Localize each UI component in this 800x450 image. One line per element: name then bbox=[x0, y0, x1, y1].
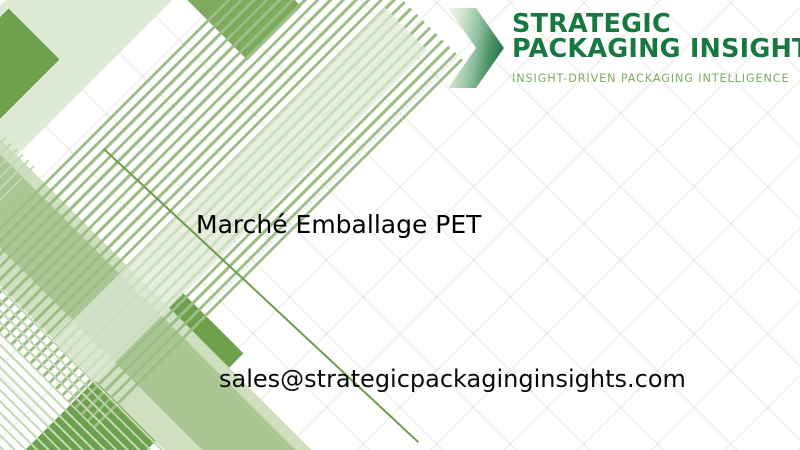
slide-title: Marché Emballage PET bbox=[196, 210, 481, 239]
accent-hairline bbox=[103, 148, 419, 442]
presentation-slide: STRATEGIC PACKAGING INSIGHTS INSIGHT-DRI… bbox=[0, 0, 800, 450]
logo-line-2: PACKAGING INSIGHTS bbox=[512, 37, 800, 62]
logo-tagline: INSIGHT-DRIVEN PACKAGING INTELLIGENCE bbox=[512, 72, 800, 85]
ribbon-band-dark-1 bbox=[0, 8, 60, 271]
ribbon-stripes-2 bbox=[0, 156, 237, 450]
logo-wordmark: STRATEGIC PACKAGING INSIGHTS INSIGHT-DRI… bbox=[512, 6, 800, 85]
ribbon-band-dark-2 bbox=[71, 0, 302, 60]
ribbon-band-medium-1 bbox=[0, 293, 243, 450]
ribbon-band-light-1 bbox=[53, 8, 428, 383]
contact-email: sales@strategicpackaginginsights.com bbox=[219, 365, 686, 393]
ribbon-stripes-3 bbox=[0, 86, 39, 404]
ribbon-band-pale-1 bbox=[0, 0, 269, 300]
chevron-mark-icon bbox=[446, 6, 506, 90]
brand-logo: STRATEGIC PACKAGING INSIGHTS INSIGHT-DRI… bbox=[446, 6, 776, 92]
ribbon-band-medium-2 bbox=[0, 109, 350, 450]
